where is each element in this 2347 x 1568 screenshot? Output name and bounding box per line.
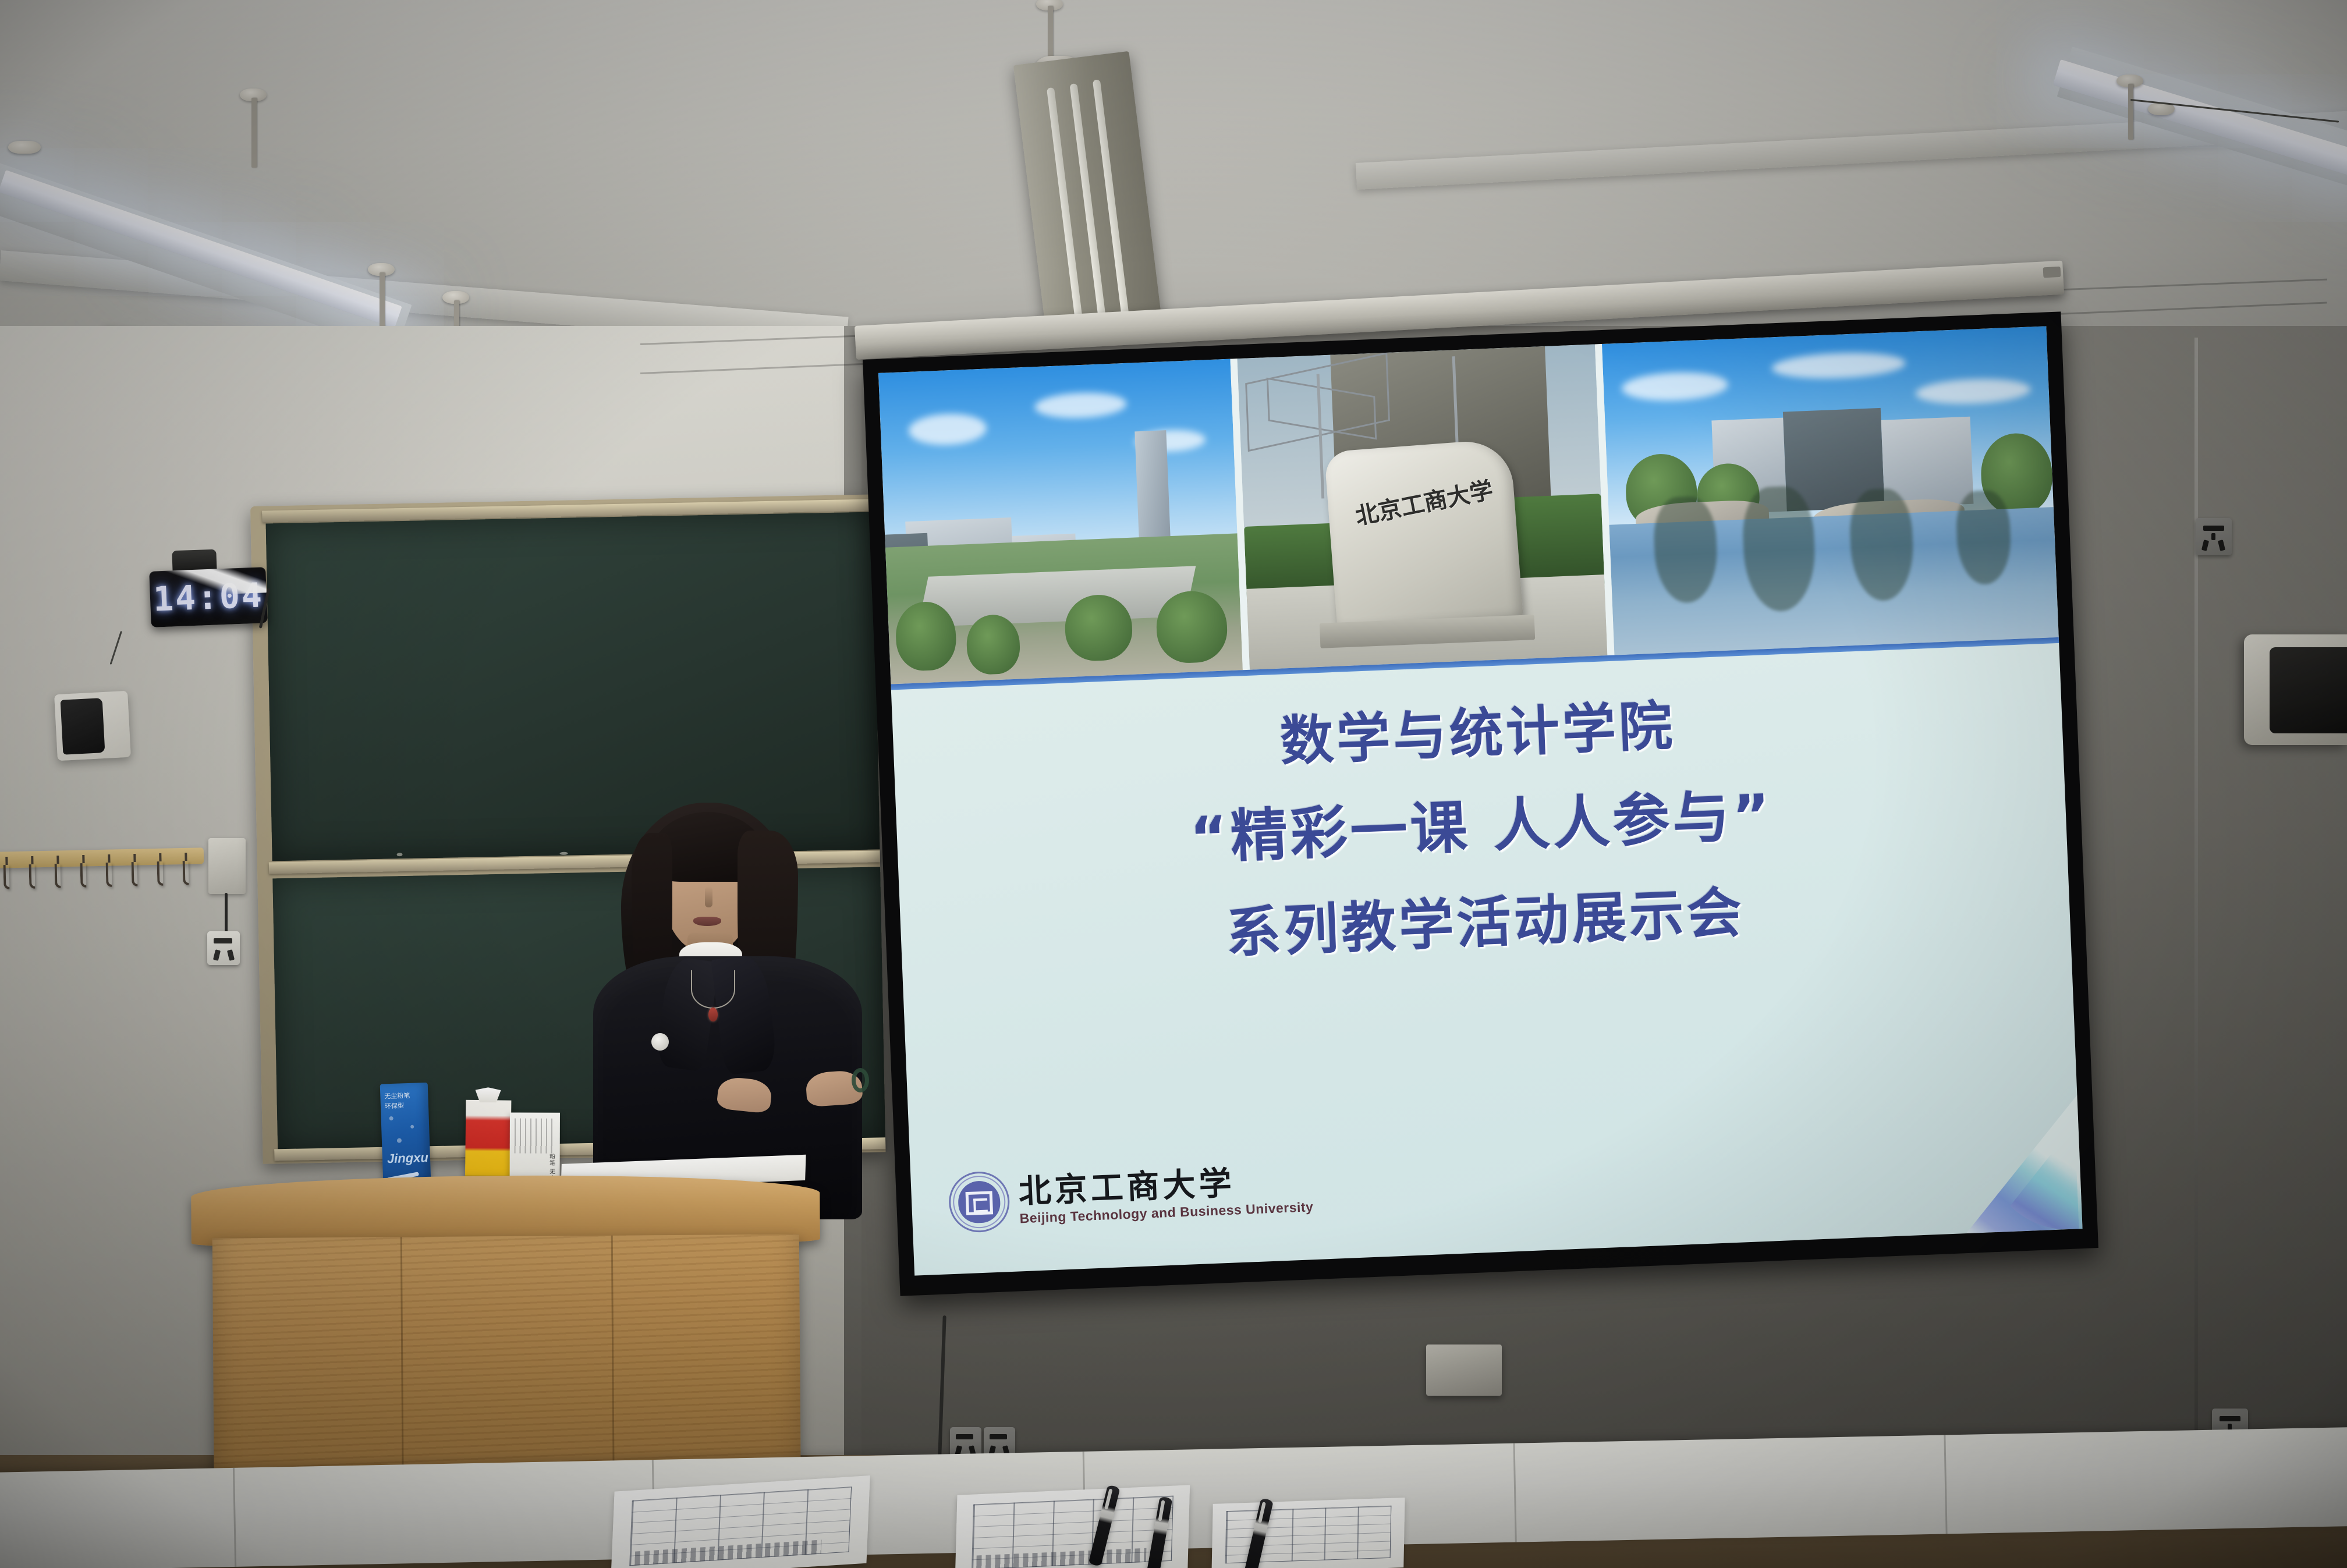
university-logo: 北京工商大学 Beijing Technology and Business U…	[948, 1158, 1314, 1233]
presenter	[591, 800, 864, 1219]
chalk-box-print	[515, 1119, 555, 1154]
campus-stone-marker: 北京工商大学	[1324, 438, 1523, 633]
coat-hook[interactable]	[132, 862, 138, 886]
podium: 无尘粉笔环保型 Jingxu 粉笔 无尘	[191, 1173, 822, 1504]
outlet-slot	[2218, 540, 2225, 551]
box-dot	[397, 1138, 402, 1143]
junction-cable	[225, 893, 228, 934]
outlet-slot	[227, 949, 235, 961]
chalk-box-brand: Jingxu	[387, 1150, 429, 1166]
wall-outlet-left[interactable]	[207, 931, 240, 965]
ceiling-rod-right	[2128, 84, 2133, 140]
screen-housing-endcap	[2043, 267, 2061, 278]
coat-hook[interactable]	[106, 863, 112, 887]
coat-hook[interactable]	[80, 863, 87, 888]
outlet-slot	[2211, 533, 2215, 540]
coat-hook[interactable]	[3, 865, 10, 889]
desk-seam	[233, 1468, 236, 1567]
projection-screen: 北京工商大学	[863, 311, 2098, 1296]
outlet-slot	[214, 938, 232, 943]
hook-upper	[108, 854, 110, 863]
classroom-photo: 14:04	[0, 0, 2347, 1568]
outlet-slot	[2203, 526, 2224, 531]
outlet-slot	[213, 949, 221, 961]
page-curl-decoration	[1961, 1095, 2083, 1233]
chalk-box-red[interactable]	[465, 1100, 512, 1186]
slide-banner: 北京工商大学	[878, 326, 2059, 684]
page-curl-inner	[1977, 1115, 2079, 1233]
pen-clip	[1158, 1500, 1165, 1521]
wall-corner-edge	[2194, 338, 2198, 1531]
wall-speaker-right	[2244, 634, 2347, 745]
outlet-slot	[2201, 540, 2209, 551]
ceiling-rod-center	[1048, 6, 1053, 64]
speaker-grille	[2270, 647, 2347, 733]
slide-title-block: 数学与统计学院 “精彩一课 人人参与” 系列教学活动展示会	[892, 669, 2071, 989]
hook-upper	[82, 855, 84, 863]
necklace-pendant	[708, 1008, 718, 1021]
speaker-grille	[61, 698, 105, 755]
wall-outlet-upper-right[interactable]	[2196, 518, 2232, 555]
digital-clock: 14:04	[149, 567, 268, 627]
banner-photo-campus-lake	[1602, 326, 2059, 655]
desk-seam	[1944, 1435, 1947, 1534]
banner-photo-campus-buildings	[878, 359, 1243, 684]
outlet-slot	[2220, 1416, 2240, 1421]
chalk-box-blue[interactable]: 无尘粉笔环保型 Jingxu	[380, 1083, 431, 1184]
coat-hook[interactable]	[29, 864, 36, 889]
ceiling-rod	[251, 98, 257, 168]
presentation-slide: 北京工商大学	[878, 326, 2083, 1275]
nose	[705, 886, 712, 907]
clock-time: 14:04	[153, 575, 264, 619]
pen-clip	[1104, 1488, 1112, 1509]
smoke-detector-left	[8, 141, 41, 154]
box-dot	[389, 1116, 393, 1120]
jade-bangle	[852, 1068, 869, 1092]
hook-upper	[5, 857, 8, 865]
wall-control-box[interactable]	[1426, 1344, 1502, 1396]
mouth	[693, 917, 721, 926]
logo-text-block: 北京工商大学 Beijing Technology and Business U…	[1018, 1163, 1314, 1226]
seal-knot-motif	[966, 1191, 994, 1215]
chalk-box-gable-top	[475, 1087, 501, 1102]
coat-hook[interactable]	[55, 864, 61, 888]
hook-upper	[159, 853, 161, 861]
coat-hook[interactable]	[183, 861, 189, 885]
outlet-slot	[990, 1434, 1007, 1439]
banner-photo-stone-marker: 北京工商大学	[1238, 344, 1608, 670]
wall-junction-box	[208, 838, 246, 894]
chalk-box-label: 无尘粉笔环保型	[384, 1091, 424, 1111]
outlet-slot	[956, 1434, 973, 1439]
necklace-chain	[691, 970, 735, 1009]
university-seal-icon	[948, 1170, 1011, 1233]
lapel-pin	[651, 1033, 669, 1051]
pen-clip	[1258, 1502, 1266, 1523]
hook-upper	[31, 856, 33, 864]
coat-hook[interactable]	[157, 861, 164, 886]
desk-seam	[1513, 1443, 1517, 1542]
hook-upper	[133, 854, 136, 862]
evaluation-form[interactable]	[1211, 1498, 1405, 1568]
evaluation-form[interactable]	[611, 1475, 870, 1568]
hook-upper	[185, 853, 187, 861]
hook-upper	[56, 856, 59, 864]
box-dot	[410, 1125, 414, 1129]
wall-speaker-left	[54, 691, 131, 761]
stone-engraved-text: 北京工商大学	[1353, 478, 1493, 528]
